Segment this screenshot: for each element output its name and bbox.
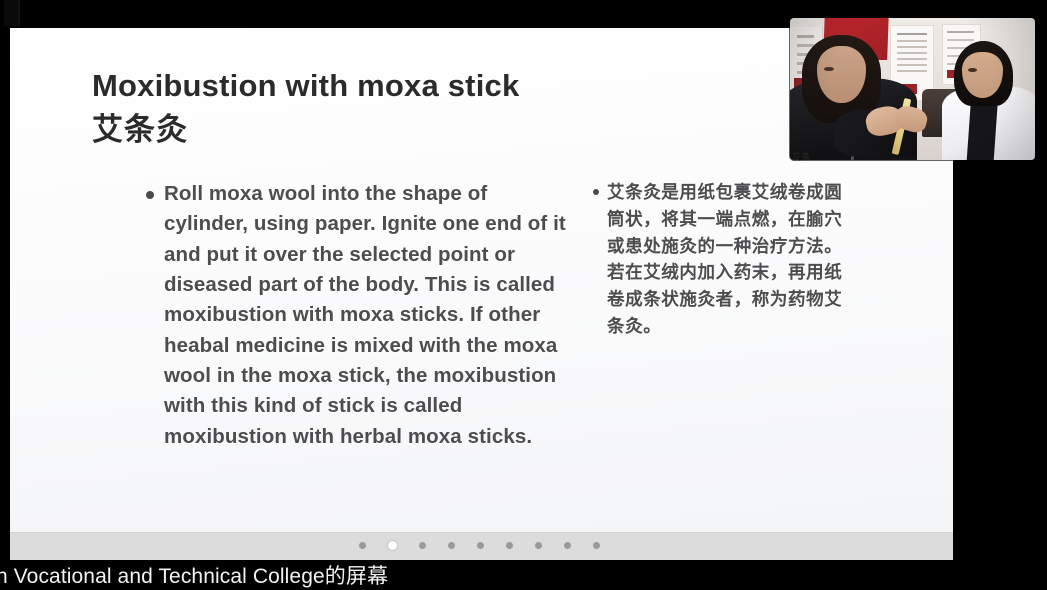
slide-title-chinese: 艾条灸 (92, 108, 712, 152)
bullet-text-chinese: 艾条灸是用纸包裹艾绒卷成圆筒状，将其一端点燃，在腧穴或患处施灸的一种治疗方法。若… (607, 179, 843, 340)
pip-overlay-glyph: 艾条 (792, 150, 811, 163)
video-frame (790, 18, 1035, 160)
screen-share-status-bar: n Vocational and Technical College的屏幕 (0, 560, 1047, 589)
bullet-item: 艾条灸是用纸包裹艾绒卷成圆筒状，将其一端点燃，在腧穴或患处施灸的一种治疗方法。若… (593, 179, 843, 340)
slide-nav-dot-3[interactable] (419, 542, 426, 549)
slide-nav-dot-6[interactable] (506, 542, 513, 549)
shared-screen-label: n Vocational and Technical College的屏幕 (0, 560, 388, 590)
slide-nav-dot-1[interactable] (359, 542, 366, 549)
bullet-dot-icon (146, 191, 154, 199)
slide-nav-dots[interactable] (359, 541, 600, 550)
capture-artifact (4, 0, 20, 26)
slide-nav-dot-8[interactable] (564, 542, 571, 549)
slide-nav-dot-9[interactable] (593, 542, 600, 549)
slide-nav-dot-4[interactable] (448, 542, 455, 549)
slide-nav-dot-7[interactable] (535, 542, 542, 549)
video-vignette (790, 18, 1035, 160)
bullet-text-english: Roll moxa wool into the shape of cylinde… (164, 179, 566, 452)
slide-title-english: Moxibustion with moxa stick (92, 68, 519, 103)
slide-column-english: Roll moxa wool into the shape of cylinde… (146, 179, 566, 452)
slide-nav-dot-2[interactable] (388, 541, 397, 550)
bullet-item: Roll moxa wool into the shape of cylinde… (146, 179, 566, 452)
slide-nav-dot-5[interactable] (477, 542, 484, 549)
slide-body: Roll moxa wool into the shape of cylinde… (10, 156, 953, 556)
bullet-dot-icon (593, 189, 599, 195)
slide-footer-band (10, 532, 953, 561)
slide-title: Moxibustion with moxa stick 艾条灸 (92, 64, 712, 152)
slide-column-chinese: 艾条灸是用纸包裹艾绒卷成圆筒状，将其一端点燃，在腧穴或患处施灸的一种治疗方法。若… (593, 179, 843, 340)
screen-share-stage: Moxibustion with moxa stick 艾条灸 Roll mox… (0, 0, 1047, 589)
participant-video-tile[interactable] (790, 18, 1035, 160)
